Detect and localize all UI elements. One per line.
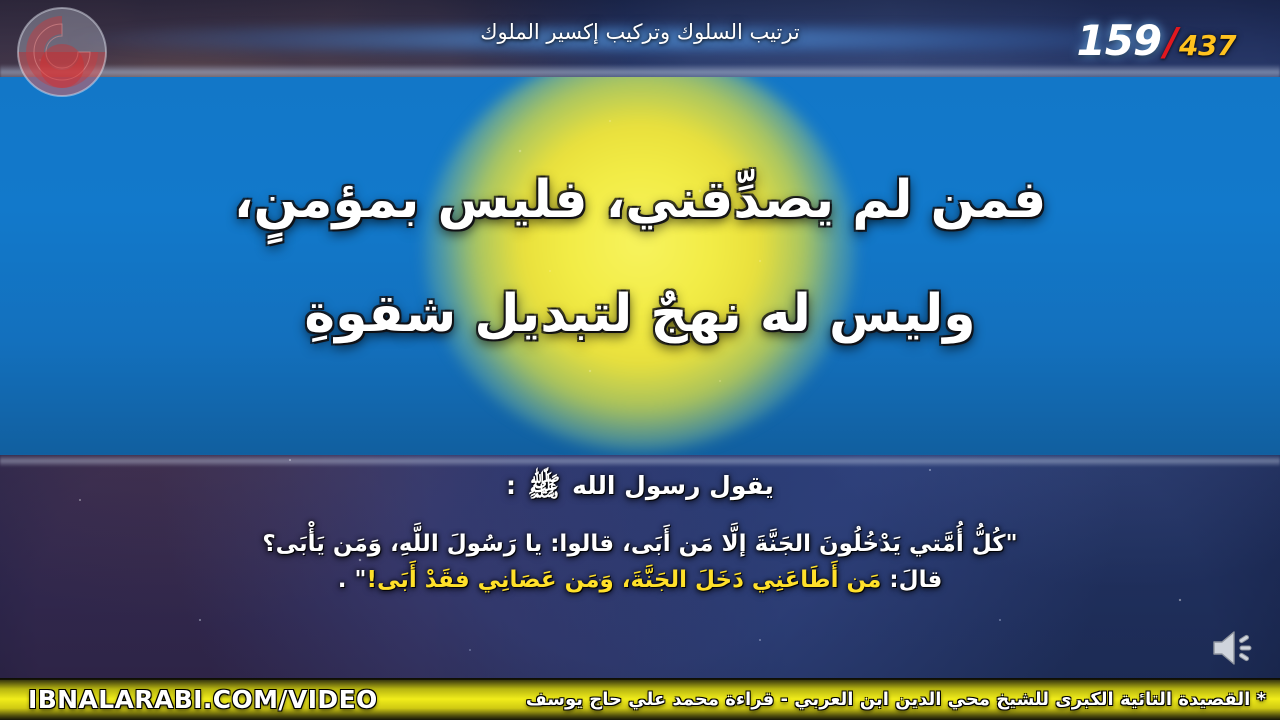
video-frame: فمن لم يصدِّقني، فليس بمؤمنٍ، وليس له نه… — [0, 0, 1280, 720]
poem-panel: فمن لم يصدِّقني، فليس بمؤمنٍ، وليس له نه… — [0, 77, 1280, 455]
slide-counter: 159 / 437 — [1076, 16, 1236, 65]
counter-separator: / — [1164, 20, 1178, 64]
hadith-intro: يقول رسول الله ﷺ : — [0, 470, 1280, 510]
hadith-intro-text: يقول رسول الله — [572, 471, 774, 500]
hadith-intro-colon: : — [506, 471, 516, 500]
hadith-line-2-prefix: قالَ: — [889, 567, 942, 593]
footer-site-url[interactable]: IBNALARABI.COM/VIDEO — [0, 685, 378, 714]
hadith-line-1-text: كُلُّ أُمَّتي يَدْخُلُونَ الجَنَّةَ إلَّ… — [262, 531, 1005, 557]
salawat-icon: ﷺ — [525, 472, 564, 503]
footer-credit: * القصيدة التائية الكبرى للشيخ محي الدين… — [526, 689, 1280, 710]
spiral-wave-logo-icon[interactable] — [8, 4, 116, 104]
hadith-close-quote: " . — [338, 567, 367, 593]
counter-total: 437 — [1179, 29, 1236, 62]
poem-line-2: وليس له نهجٌ لتبديل شقوةِ — [304, 279, 975, 349]
hadith-section: يقول رسول الله ﷺ : "كُلُّ أُمَّتي يَدْخُ… — [0, 462, 1280, 662]
speaker-volume-icon[interactable] — [1210, 628, 1256, 668]
poem-text-block: فمن لم يصدِّقني، فليس بمؤمنٍ، وليس له نه… — [0, 77, 1280, 455]
hadith-body: "كُلُّ أُمَّتي يَدْخُلُونَ الجَنَّةَ إلَ… — [0, 526, 1280, 599]
hadith-line-1: "كُلُّ أُمَّتي يَدْخُلُونَ الجَنَّةَ إلَ… — [0, 526, 1280, 562]
hadith-open-quote: " — [1006, 531, 1018, 557]
footer-bar: IBNALARABI.COM/VIDEO * القصيدة التائية ا… — [0, 678, 1280, 720]
hadith-line-2: قالَ: مَن أَطَاعَنِي دَخَلَ الجَنَّةَ، و… — [0, 562, 1280, 598]
counter-current: 159 — [1076, 16, 1161, 65]
poem-line-1: فمن لم يصدِّقني، فليس بمؤمنٍ، — [234, 165, 1047, 235]
hadith-line-2-highlight: مَن أَطَاعَنِي دَخَلَ الجَنَّةَ، وَمَن ع… — [366, 567, 881, 593]
